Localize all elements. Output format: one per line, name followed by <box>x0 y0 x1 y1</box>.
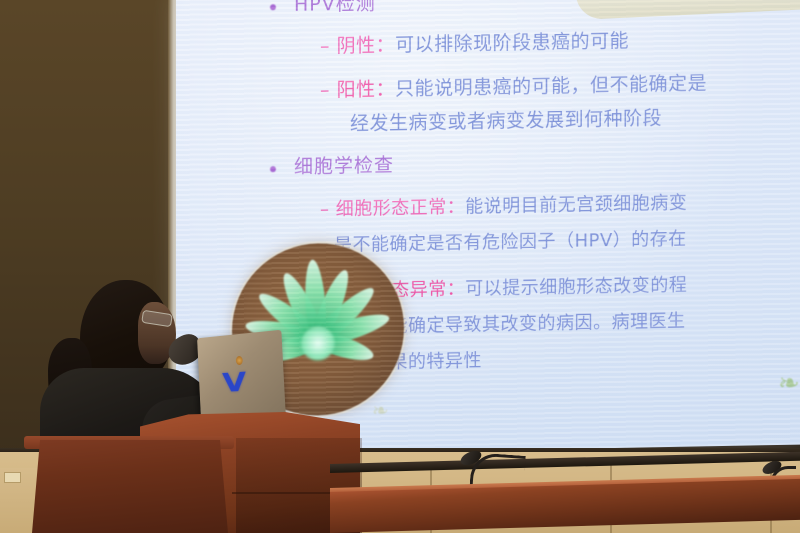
bullet-hpv <box>270 4 276 10</box>
podium-left-panel <box>28 440 228 533</box>
laptop-logo: V <box>222 368 247 399</box>
slide-line-hpv-heading: HPV检测 <box>294 0 376 15</box>
bullet-cytology <box>270 166 276 172</box>
dash-marker-negative: – <box>320 35 337 57</box>
laptop-emblem-icon <box>236 356 243 365</box>
text-positive: 只能说明患癌的可能，但不能确定是 <box>395 72 707 100</box>
dash-marker-normal: – <box>320 199 336 220</box>
label-negative: 阴性： <box>337 34 396 57</box>
dash-marker-positive: – <box>320 79 337 101</box>
slide-line-negative: – 阴性：可以排除现阶段患癌的可能 <box>320 32 629 57</box>
text-normal-morphology: 能说明目前无宫颈细胞病变 <box>465 193 687 218</box>
wall-placard <box>4 472 21 483</box>
label-positive: 阳性： <box>337 78 396 101</box>
slide-line-normal-cont: 是不能确定是否有危险因子（HPV）的存在 <box>334 231 687 255</box>
text-abnormal-morphology: 可以提示细胞形态改变的程 <box>465 275 687 300</box>
text-negative: 可以排除现阶段患癌的可能 <box>395 30 629 56</box>
presentation-photo-scene: 优势互补 HPV检测 – 阴性：可以排除现阶段患癌的可能 – 阳性：只能说明患癌… <box>0 0 800 533</box>
slide-line-positive-cont: 经发生病变或者病变发展到何种阶段 <box>350 109 662 134</box>
vine-decoration-left-icon: ❧ <box>372 398 389 422</box>
slide-line-cytology-heading: 细胞学检查 <box>294 156 394 177</box>
slide-line-normal-morphology: – 细胞形态正常：能说明目前无宫颈细胞病变 <box>320 195 687 220</box>
slide-line-positive: – 阳性：只能说明患癌的可能，但不能确定是 <box>320 74 707 100</box>
plant-center <box>301 326 335 361</box>
vine-decoration-right-icon: ❧ <box>778 369 800 399</box>
slide-banner: 优势互补 <box>575 0 800 20</box>
label-normal-morphology: 细胞形态正常： <box>336 197 466 220</box>
